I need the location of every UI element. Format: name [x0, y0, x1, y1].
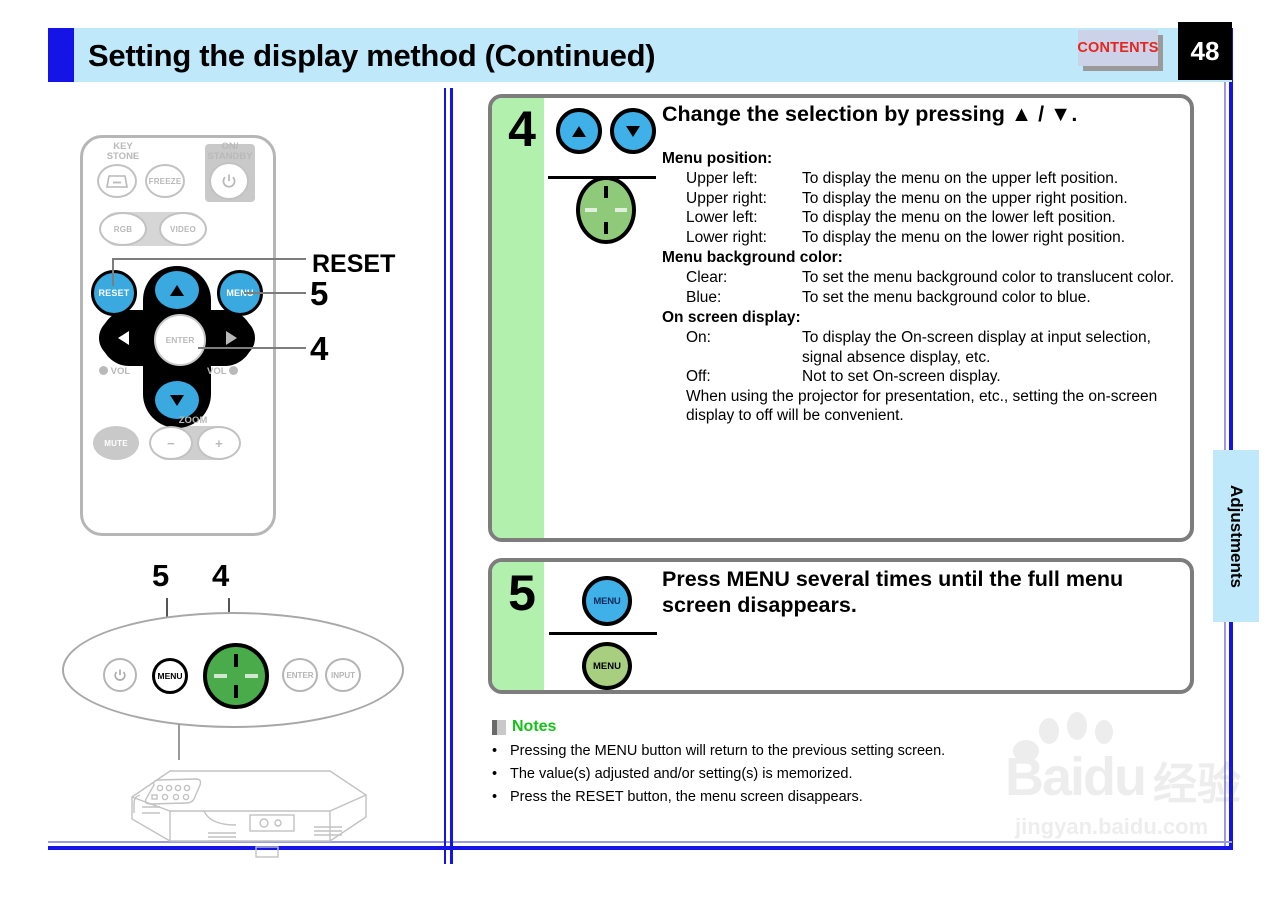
- arrow-left-button[interactable]: [99, 316, 147, 360]
- keystone-icon: [106, 175, 128, 188]
- section-heading: On screen display:: [662, 307, 1182, 328]
- option-desc: To display the menu on the upper left po…: [802, 169, 1182, 189]
- zoom-caption: ZOOM: [163, 416, 223, 426]
- option-term: Lower left:: [686, 208, 802, 228]
- option-desc: To display the menu on the lower right p…: [802, 228, 1182, 248]
- option-term: Off:: [686, 367, 802, 387]
- reset-button[interactable]: RESET: [91, 270, 137, 316]
- option-desc: To display the On-screen display at inpu…: [802, 328, 1182, 367]
- step4-arrow-down-button[interactable]: [610, 108, 656, 154]
- panel-dpad-icon: [207, 647, 265, 705]
- menu-label: MENU: [593, 596, 620, 607]
- remote-control-illustration: KEY STONE ON/ STANDBY FREEZE RGB VIDEO R…: [80, 135, 276, 536]
- option-row: On: To display the On-screen display at …: [686, 328, 1182, 367]
- option-desc: Not to set On-screen display.: [802, 367, 1182, 387]
- page-number-badge: 48: [1178, 22, 1232, 80]
- arrow-down-icon: [170, 395, 184, 406]
- rgb-button[interactable]: RGB: [99, 212, 147, 246]
- column-divider-inner: [444, 88, 446, 864]
- power-icon: [114, 669, 126, 682]
- vol-plus-caption: VOL: [207, 366, 259, 377]
- keystone-caption: KEY STONE: [95, 142, 151, 162]
- option-term: Upper right:: [686, 189, 802, 209]
- notes-section: Notes • Pressing the MENU button will re…: [492, 718, 1192, 809]
- freeze-button[interactable]: FREEZE: [145, 164, 185, 198]
- power-button[interactable]: [209, 162, 249, 200]
- mute-button[interactable]: MUTE: [93, 426, 139, 460]
- menu-label: MENU: [593, 661, 621, 672]
- option-desc: To set the menu background color to blue…: [802, 288, 1182, 308]
- callout-remote-5: 5: [310, 275, 328, 313]
- page-frame-right: [1229, 28, 1233, 850]
- note-item: • Pressing the MENU button will return t…: [492, 740, 1192, 763]
- step-4-strip: [492, 98, 544, 538]
- option-term: Blue:: [686, 288, 802, 308]
- note-text: Press the RESET button, the menu screen …: [510, 786, 863, 809]
- option-row: Upper left: To display the menu on the u…: [686, 169, 1182, 189]
- arrow-right-button[interactable]: [207, 316, 255, 360]
- option-term: On:: [686, 328, 802, 367]
- contents-button[interactable]: CONTENTS: [1078, 30, 1158, 66]
- page-title: Setting the display method (Continued): [88, 34, 655, 78]
- callout-line-reset-v: [112, 258, 114, 286]
- zoom-plus-button[interactable]: +: [197, 426, 241, 460]
- step-4-heading: Change the selection by pressing ▲ / ▼.: [662, 101, 1182, 127]
- option-desc: To display the menu on the upper right p…: [802, 189, 1182, 209]
- panel-dpad-icon: [580, 180, 632, 240]
- section-tab-label: Adjustments: [1213, 450, 1259, 622]
- note-text: Pressing the MENU button will return to …: [510, 740, 945, 763]
- option-term: Clear:: [686, 268, 802, 288]
- step4-panel-dpad-button[interactable]: [576, 176, 636, 244]
- column-divider: [450, 88, 453, 864]
- section-heading: Menu background color:: [662, 247, 1182, 268]
- notes-flag-icon: [492, 720, 506, 735]
- callout-panel-4: 4: [212, 558, 229, 594]
- step4-arrow-up-button[interactable]: [556, 108, 602, 154]
- notes-title-label: Notes: [512, 718, 556, 736]
- option-desc: To set the menu background color to tran…: [802, 268, 1182, 288]
- option-desc: To display the menu on the lower left po…: [802, 208, 1182, 228]
- vol-minus-icon: [99, 366, 108, 375]
- option-row: Off: Not to set On-screen display.: [686, 367, 1182, 387]
- arrow-up-icon: [170, 285, 184, 296]
- step5-icon-divider: [549, 632, 657, 635]
- option-row: Upper right: To display the menu on the …: [686, 189, 1182, 209]
- step5-menu-button-panel[interactable]: MENU: [582, 642, 632, 690]
- arrow-left-icon: [118, 331, 129, 345]
- panel-enter-button[interactable]: ENTER: [282, 658, 318, 692]
- option-row: Lower left: To display the menu on the l…: [686, 208, 1182, 228]
- option-term: Lower right:: [686, 228, 802, 248]
- arrow-up-button[interactable]: [152, 268, 202, 312]
- bullet-icon: •: [492, 740, 510, 763]
- note-text: The value(s) adjusted and/or setting(s) …: [510, 763, 853, 786]
- callout-remote-4: 4: [310, 330, 328, 368]
- contents-button-label: CONTENTS: [1077, 40, 1158, 56]
- callout-panel-5: 5: [152, 558, 169, 594]
- notes-title: Notes: [492, 718, 1192, 736]
- enter-button[interactable]: ENTER: [154, 314, 206, 366]
- callout-line-reset-h: [112, 258, 306, 260]
- note-item: • Press the RESET button, the menu scree…: [492, 786, 1192, 809]
- step-4-number: 4: [500, 100, 544, 158]
- bullet-icon: •: [492, 763, 510, 786]
- step-4-closing: When using the projector for presentatio…: [686, 387, 1182, 426]
- video-button[interactable]: VIDEO: [159, 212, 207, 246]
- arrow-up-icon: [572, 126, 586, 137]
- callout-line-5: [244, 292, 306, 294]
- projector-illustration: [118, 755, 378, 860]
- watermark-url: jingyan.baidu.com: [1015, 814, 1208, 840]
- note-item: • The value(s) adjusted and/or setting(s…: [492, 763, 1192, 786]
- power-icon: [222, 174, 236, 189]
- zoom-minus-button[interactable]: −: [149, 426, 193, 460]
- onstandby-caption: ON/ STANDBY: [201, 142, 259, 162]
- bullet-icon: •: [492, 786, 510, 809]
- panel-input-button[interactable]: INPUT: [325, 658, 361, 692]
- arrow-down-icon: [626, 126, 640, 137]
- vol-minus-caption: VOL: [99, 366, 147, 377]
- keystone-button[interactable]: [97, 164, 137, 198]
- step-5-heading: Press MENU several times until the full …: [662, 566, 1162, 618]
- option-term: Upper left:: [686, 169, 802, 189]
- option-row: Clear: To set the menu background color …: [686, 268, 1182, 288]
- section-heading: Menu position:: [662, 148, 1182, 169]
- arrow-right-icon: [226, 331, 237, 345]
- option-row: Blue: To set the menu background color t…: [686, 288, 1182, 308]
- step5-menu-button-remote[interactable]: MENU: [582, 576, 632, 626]
- vol-plus-icon: [229, 366, 238, 375]
- panel-menu-button[interactable]: MENU: [152, 658, 188, 694]
- option-row: Lower right: To display the menu on the …: [686, 228, 1182, 248]
- callout-line-4: [198, 347, 306, 349]
- page-frame-right-inner: [1224, 28, 1226, 846]
- header-accent-mark: [48, 28, 74, 82]
- panel-power-button[interactable]: [103, 658, 137, 692]
- step-5-number: 5: [500, 564, 544, 622]
- panel-dpad-button[interactable]: [203, 643, 269, 709]
- step-4-body: Menu position: Upper left: To display th…: [662, 148, 1182, 426]
